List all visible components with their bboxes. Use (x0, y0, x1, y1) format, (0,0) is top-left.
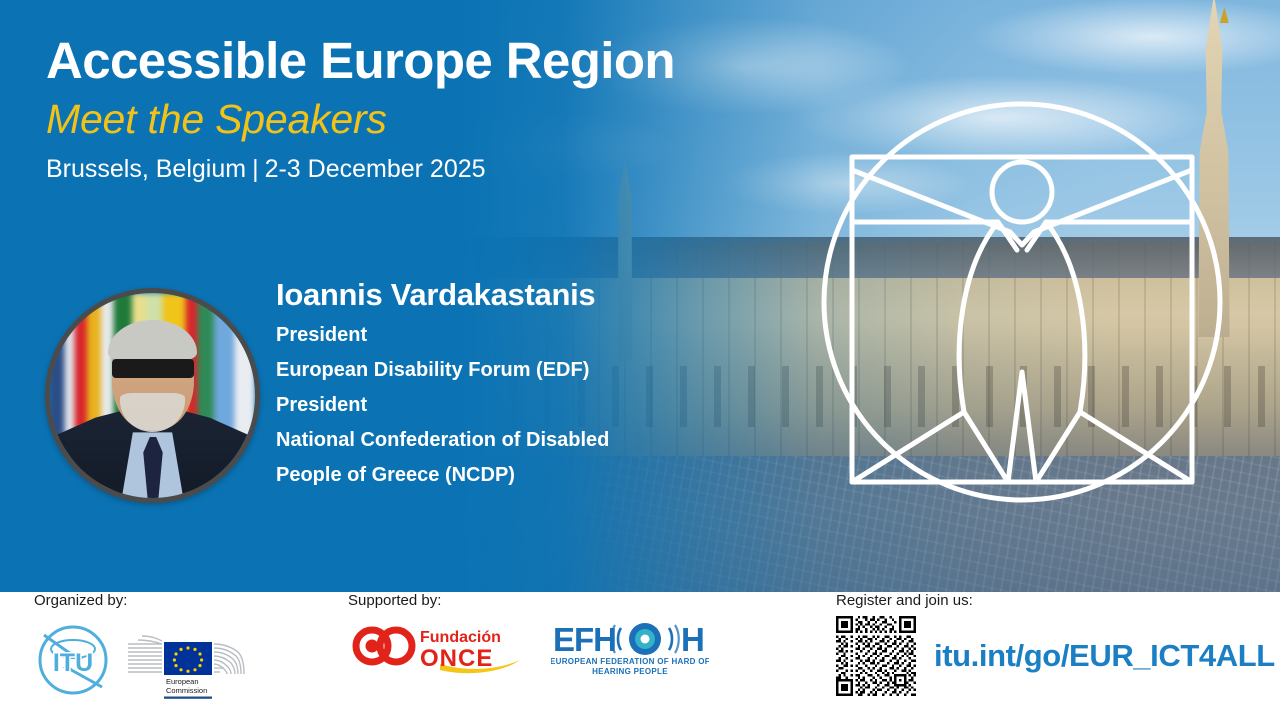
svg-text:Fundación: Fundación (420, 629, 501, 646)
page-subtitle: Meet the Speakers (46, 98, 675, 141)
svg-text:EUROPEAN FEDERATION OF HARD OF: EUROPEAN FEDERATION OF HARD OF (551, 657, 709, 666)
svg-text:HEARING PEOPLE: HEARING PEOPLE (592, 667, 668, 676)
svg-text:European: European (166, 677, 199, 686)
fundacion-once-logo[interactable]: Fundación ONCE (348, 620, 523, 676)
supporter-logos: Fundación ONCE EFH (348, 618, 709, 678)
svg-text:ONCE: ONCE (420, 645, 493, 672)
headline-block: Accessible Europe Region Meet the Speake… (46, 34, 675, 184)
speaker-role-line: European Disability Forum (EDF) (276, 359, 609, 382)
organized-by-label: Organized by: (34, 592, 246, 609)
speaker-role-line: President (276, 394, 609, 417)
organized-by-section: Organized by: ITU (34, 592, 246, 720)
register-section: Register and join us: (836, 592, 1275, 720)
speaker-details: Ioannis Vardakastanis President European… (276, 278, 609, 487)
meta-separator: | (246, 155, 265, 183)
svg-text:ITU: ITU (53, 649, 93, 677)
svg-text:Commission: Commission (166, 686, 207, 695)
register-row: itu.int/go/EUR_ICT4ALL (836, 616, 1275, 696)
portrait-sunglasses-icon (112, 359, 194, 378)
itu-logo[interactable]: ITU (34, 621, 112, 697)
footer-bar: Organized by: ITU (0, 592, 1280, 720)
speaker-role-line: President (276, 324, 609, 347)
page-title: Accessible Europe Region (46, 34, 675, 88)
registration-qr-code[interactable] (836, 616, 916, 696)
event-meta: Brussels, Belgium|2-3 December 2025 (46, 155, 675, 184)
event-dates: 2-3 December 2025 (265, 155, 486, 183)
supported-by-section: Supported by: Fundación ONCE EFH (348, 592, 709, 720)
event-location: Brussels, Belgium (46, 155, 246, 183)
speaker-role-line: National Confederation of Disabled (276, 429, 609, 452)
svg-text:EFH: EFH (553, 621, 616, 658)
supported-by-label: Supported by: (348, 592, 709, 609)
registration-url[interactable]: itu.int/go/EUR_ICT4ALL (934, 638, 1275, 674)
register-label: Register and join us: (836, 592, 1275, 609)
svg-text:H: H (681, 621, 705, 658)
speaker-name: Ioannis Vardakastanis (276, 278, 609, 312)
event-banner: Accessible Europe Region Meet the Speake… (0, 0, 1280, 720)
european-commission-logo[interactable]: European Commission (126, 618, 246, 700)
speaker-avatar (45, 288, 260, 503)
hero-section: Accessible Europe Region Meet the Speake… (0, 0, 1280, 592)
speaker-role-line: People of Greece (NCDP) (276, 464, 609, 487)
organizer-logos: ITU (34, 618, 246, 700)
efhoh-logo[interactable]: EFH H EUROPEAN FEDERATION OF HARD OF HE (551, 618, 709, 678)
